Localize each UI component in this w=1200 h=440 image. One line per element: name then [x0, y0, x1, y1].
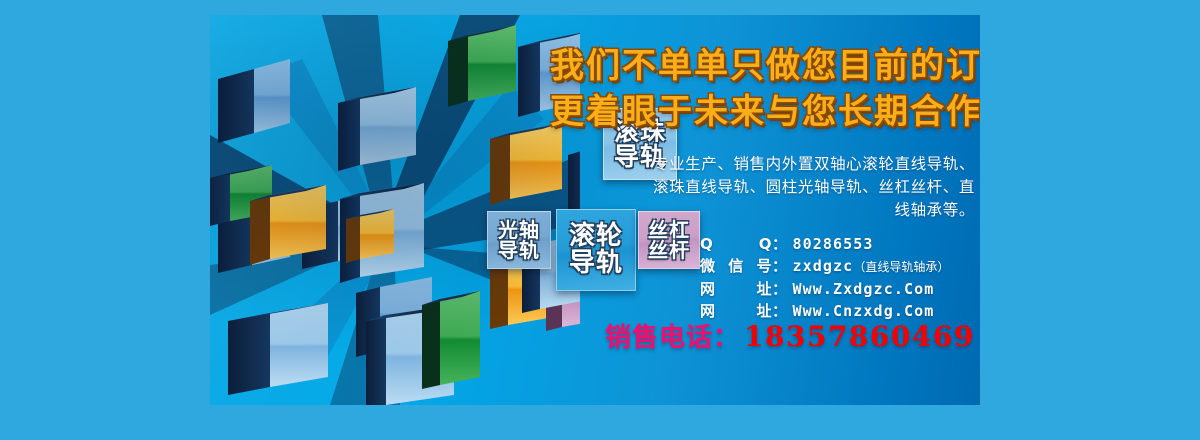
subtitle-line-3: 线轴承等。 [610, 199, 975, 222]
contact-colon: ： [772, 278, 788, 300]
contact-row-website-1: 网 址 ： Www.Zxdgzc.Com [700, 278, 980, 300]
contact-value-qq[interactable]: 80286553 [793, 233, 874, 255]
headline-line-2: 更着眼于未来与您长期合作 [550, 89, 975, 135]
contact-label: 微信号 [700, 255, 772, 277]
contact-label: Q Q [700, 233, 772, 255]
contact-label: 网 址 [700, 278, 772, 300]
contact-colon: ： [772, 255, 788, 277]
subtitle-line-1: 专业生产、销售内外置双轴心滚轮直线导轨、 [610, 153, 975, 176]
chip-line-2: 导轨 [498, 240, 540, 260]
sales-phone-label: 销售电话： [605, 317, 740, 354]
cube-artwork [210, 15, 580, 405]
contact-colon: ： [772, 233, 788, 255]
contact-value-wechat[interactable]: zxdgzc [793, 255, 854, 277]
sales-phone-number[interactable]: 18357860469 [744, 320, 975, 353]
contact-value-website-1[interactable]: Www.Zxdgzc.Com [793, 278, 935, 300]
sales-phone-block[interactable]: 销售电话： 18357860469 [605, 317, 980, 354]
headline-line-1: 我们不单单只做您目前的订单 [550, 43, 975, 89]
chip-line-1: 光轴 [498, 220, 540, 240]
headline: 我们不单单只做您目前的订单 更着眼于未来与您长期合作 [550, 43, 975, 135]
contact-note-wechat: （直线导轨轴承） [853, 256, 949, 278]
contact-row-qq: Q Q ： 80286553 [700, 233, 980, 255]
banner-stage: 滚珠 导轨 光轴 导轨 滚轮 导轨 丝杠 丝杆 我们不单单只做您目前的订单 更着… [0, 0, 1200, 440]
contact-block: Q Q ： 80286553 微信号 ： zxdgzc （直线导轨轴承） 网 址… [700, 233, 980, 322]
banner-copy-column: 我们不单单只做您目前的订单 更着眼于未来与您长期合作 专业生产、销售内外置双轴心… [550, 15, 980, 405]
promo-banner: 滚珠 导轨 光轴 导轨 滚轮 导轨 丝杠 丝杆 我们不单单只做您目前的订单 更着… [210, 15, 980, 405]
subtitle: 专业生产、销售内外置双轴心滚轮直线导轨、 滚珠直线导轨、圆柱光轴导轨、丝杠丝杆、… [610, 153, 975, 222]
subtitle-line-2: 滚珠直线导轨、圆柱光轴导轨、丝杠丝杆、直 [610, 176, 975, 199]
product-chip-guangzhou-daogui[interactable]: 光轴 导轨 [487, 211, 551, 269]
contact-row-wechat: 微信号 ： zxdgzc （直线导轨轴承） [700, 255, 980, 278]
